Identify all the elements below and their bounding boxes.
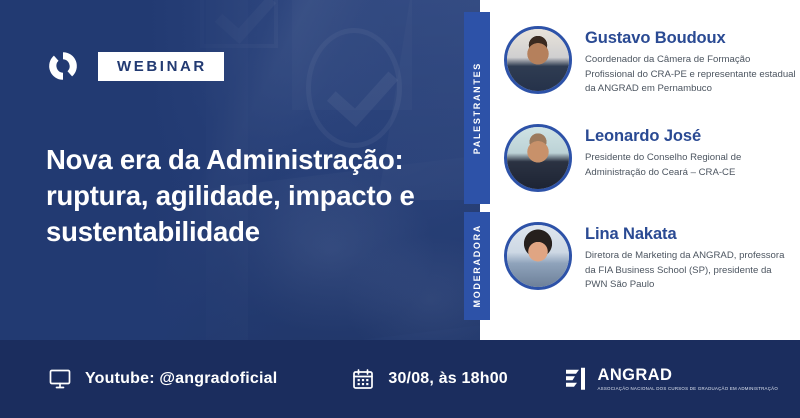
webinar-poster: WEBINAR Nova era da Administração: ruptu…: [0, 0, 800, 418]
split-ring-logo-icon: [46, 49, 80, 83]
person-name: Leonardo José: [585, 127, 796, 146]
channel-label: Youtube: @angradoficial: [85, 370, 277, 388]
monitor-icon: [48, 367, 72, 391]
person-card: Lina Nakata Diretora de Marketing da ANG…: [504, 222, 796, 293]
angrad-logo-name: ANGRAD: [598, 367, 779, 384]
person-card: Leonardo José Presidente do Conselho Reg…: [504, 124, 796, 192]
person-role: Presidente do Conselho Regional de Admin…: [585, 151, 796, 180]
avatar: [504, 26, 572, 94]
webinar-badge: WEBINAR: [98, 52, 224, 81]
person-text: Leonardo José Presidente do Conselho Reg…: [585, 124, 796, 180]
person-role: Diretora de Marketing da ANGRAD, profess…: [585, 249, 796, 293]
angrad-logo-text: ANGRAD ASSOCIAÇÃO NACIONAL DOS CURSOS DE…: [598, 367, 779, 391]
page-title: Nova era da Administração: ruptura, agil…: [46, 142, 436, 249]
avatar-image: [507, 29, 569, 91]
avatar: [504, 222, 572, 290]
avatar-image: [507, 127, 569, 189]
person-text: Gustavo Boudoux Coordenador da Câmera de…: [585, 26, 796, 97]
person-role: Coordenador da Câmera de Formação Profis…: [585, 53, 796, 97]
avatar-image: [507, 225, 569, 287]
person-name: Gustavo Boudoux: [585, 29, 796, 48]
angrad-logo-tagline: ASSOCIAÇÃO NACIONAL DOS CURSOS DE GRADUA…: [598, 385, 779, 391]
angrad-logo: ANGRAD ASSOCIAÇÃO NACIONAL DOS CURSOS DE…: [565, 367, 779, 391]
section-tab-speakers: PALESTRANTES: [464, 12, 490, 204]
date-info: 30/08, às 18h00: [351, 367, 508, 391]
calendar-icon: [351, 367, 375, 391]
channel-info: Youtube: @angradoficial: [48, 367, 277, 391]
people-panel: Gustavo Boudoux Coordenador da Câmera de…: [490, 0, 800, 340]
section-tab-moderator: MODERADORA: [464, 212, 490, 320]
brand-row: WEBINAR: [46, 49, 224, 83]
person-text: Lina Nakata Diretora de Marketing da ANG…: [585, 222, 796, 293]
date-label: 30/08, às 18h00: [388, 370, 508, 388]
person-card: Gustavo Boudoux Coordenador da Câmera de…: [504, 26, 796, 97]
footer-bar: Youtube: @angradoficial 30/08, às 18h00: [0, 340, 800, 418]
section-tab-moderator-label: MODERADORA: [472, 224, 482, 308]
hero-panel: WEBINAR Nova era da Administração: ruptu…: [0, 0, 480, 340]
section-tab-speakers-label: PALESTRANTES: [472, 62, 482, 154]
person-name: Lina Nakata: [585, 225, 796, 244]
avatar: [504, 124, 572, 192]
angrad-logo-icon: [565, 367, 591, 391]
